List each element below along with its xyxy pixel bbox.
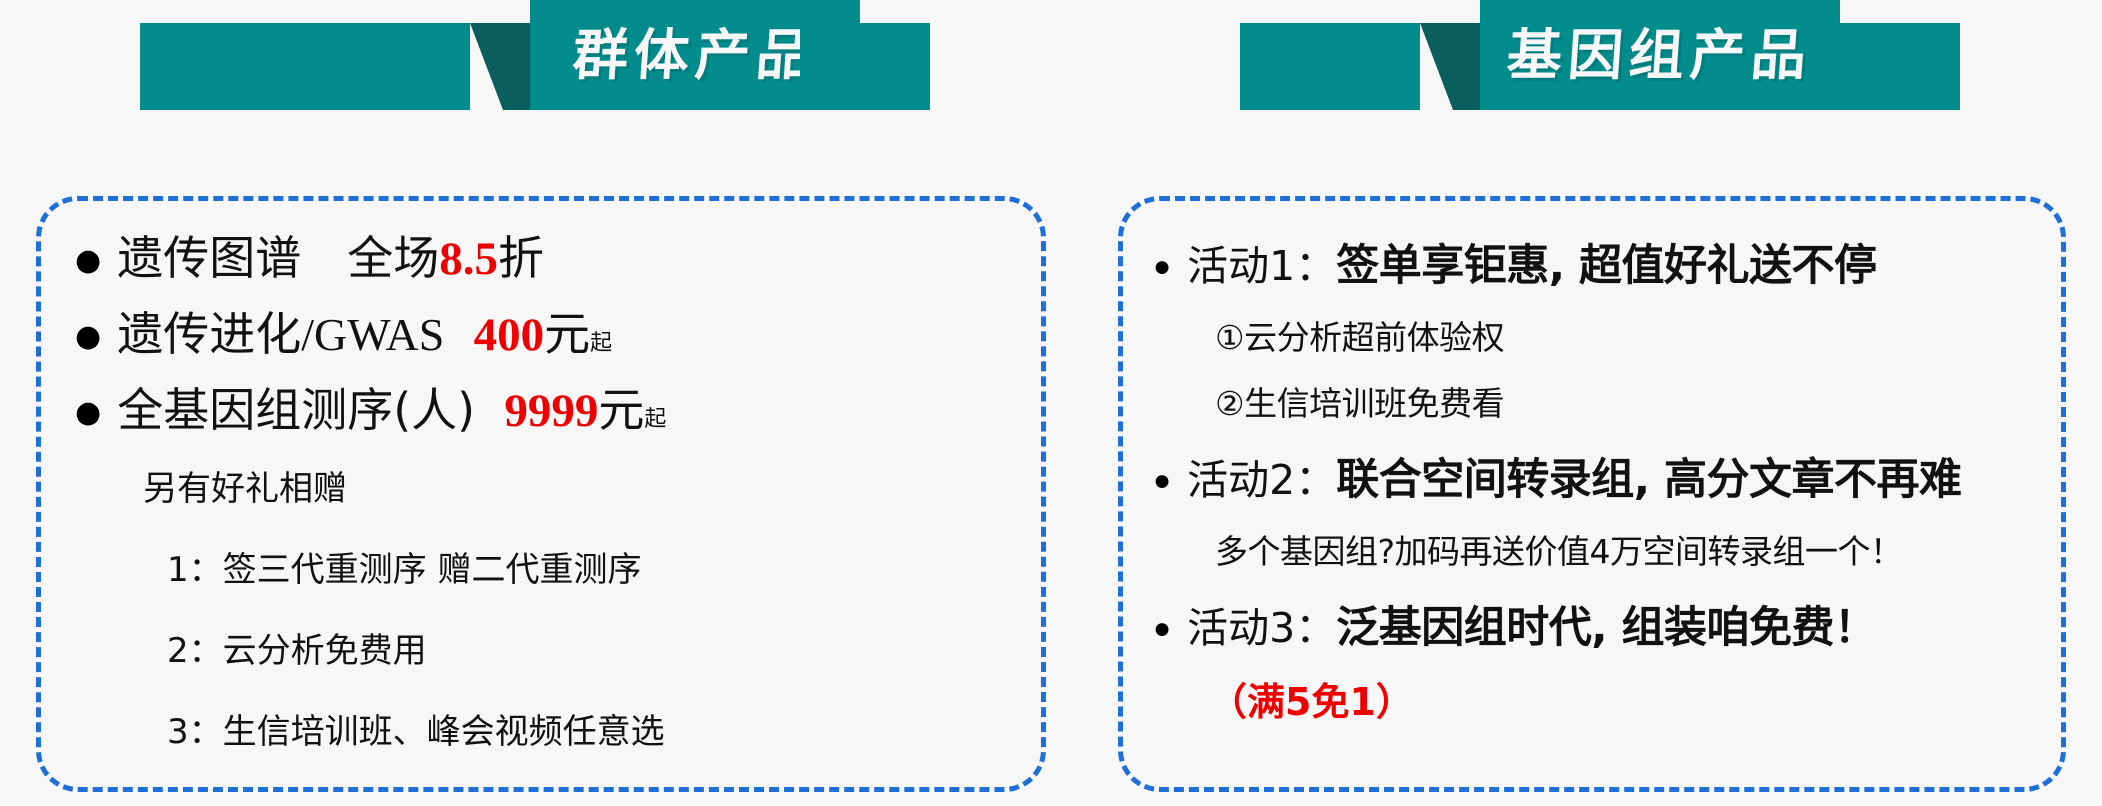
banner-group-products: 群体产品 bbox=[140, 0, 930, 110]
bullet-prefix: 全基因组测序(人) bbox=[117, 383, 475, 437]
bullet-dot-icon: ● bbox=[75, 398, 101, 428]
activity-text: 活动2：联合空间转录组, 高分文章不再难 bbox=[1187, 445, 1961, 507]
banner-title: 基因组产品 bbox=[1506, 28, 1815, 83]
bullet-dot-icon: ● bbox=[75, 246, 101, 276]
activity-label: 活动2： bbox=[1187, 456, 1336, 504]
gift-item: 1：签三代重测序 赠二代重测序 bbox=[167, 542, 1011, 591]
card-body: ● 遗传图谱 全场8.5折 ● 遗传进化/GWAS 400元起 ● 全基因组测序… bbox=[41, 201, 1041, 773]
activity-red-note: （满5免1） bbox=[1209, 671, 2041, 726]
activity-text: 活动3：泛基因组时代, 组装咱免费！ bbox=[1187, 593, 1876, 655]
activity-headline: 签单享钜惠, 超值好礼送不停 bbox=[1336, 241, 1876, 291]
gift-header: 另有好礼相赠 bbox=[143, 461, 1011, 510]
list-item: ● 活动1：签单享钜惠, 超值好礼送不停 bbox=[1153, 231, 2041, 293]
bullet-highlight: 400 bbox=[474, 309, 545, 361]
card-genome-products: ● 活动1：签单享钜惠, 超值好礼送不停 ①云分析超前体验权 ②生信培训班免费看… bbox=[1118, 196, 2066, 792]
banner-genome-products: 基因组产品 bbox=[1240, 0, 1960, 110]
activity-headline: 联合空间转录组, 高分文章不再难 bbox=[1336, 455, 1961, 505]
list-item: ● 遗传图谱 全场8.5折 bbox=[75, 235, 1011, 283]
activity-text: 活动1：签单享钜惠, 超值好礼送不停 bbox=[1187, 231, 1876, 293]
ribbon-fold-left bbox=[1420, 23, 1480, 110]
bullet-suffix: 元 bbox=[598, 383, 644, 437]
bullet-text: 全基因组测序(人) 9999元起 bbox=[117, 387, 666, 435]
list-item: ● 活动3：泛基因组时代, 组装咱免费！ bbox=[1153, 593, 2041, 655]
card-body: ● 活动1：签单享钜惠, 超值好礼送不停 ①云分析超前体验权 ②生信培训班免费看… bbox=[1123, 201, 2061, 740]
card-group-products: ● 遗传图谱 全场8.5折 ● 遗传进化/GWAS 400元起 ● 全基因组测序… bbox=[36, 196, 1046, 792]
banner-title: 群体产品 bbox=[571, 28, 819, 83]
bullet-dot-icon: ● bbox=[1153, 466, 1171, 496]
bullet-small-suffix: 起 bbox=[590, 331, 612, 356]
bullet-suffix: 折 bbox=[498, 231, 544, 285]
bullet-dot-icon: ● bbox=[1153, 614, 1171, 644]
ribbon-tail-left bbox=[1240, 23, 1420, 110]
bullet-suffix: 元 bbox=[544, 307, 590, 361]
activity-note: ②生信培训班免费看 bbox=[1215, 377, 2041, 425]
bullet-prefix: 遗传进化/GWAS bbox=[117, 309, 444, 360]
bullet-dot-icon: ● bbox=[1153, 252, 1171, 282]
ribbon-tail-right bbox=[800, 23, 930, 110]
list-item: ● 遗传进化/GWAS 400元起 bbox=[75, 311, 1011, 359]
ribbon-tail-right bbox=[1840, 23, 1960, 110]
bullet-highlight: 9999 bbox=[504, 385, 598, 437]
activity-note: 多个基因组?加码再送价值4万空间转录组一个！ bbox=[1215, 525, 2041, 573]
bullet-dot-icon: ● bbox=[75, 322, 101, 352]
ribbon-center: 基因组产品 bbox=[1480, 0, 1840, 110]
list-item: ● 全基因组测序(人) 9999元起 bbox=[75, 387, 1011, 435]
bullet-text: 遗传进化/GWAS 400元起 bbox=[117, 311, 612, 359]
bullet-small-suffix: 起 bbox=[644, 407, 666, 432]
bullet-highlight: 8.5 bbox=[439, 233, 498, 285]
gift-item: 2：云分析免费用 bbox=[167, 623, 1011, 672]
activity-label: 活动3： bbox=[1187, 604, 1336, 652]
ribbon-tail-left bbox=[140, 23, 470, 110]
list-item: ● 活动2：联合空间转录组, 高分文章不再难 bbox=[1153, 445, 2041, 507]
activity-headline: 泛基因组时代, 组装咱免费！ bbox=[1336, 603, 1876, 653]
bullet-text: 遗传图谱 全场8.5折 bbox=[117, 235, 544, 283]
activity-note: ①云分析超前体验权 bbox=[1215, 311, 2041, 359]
activity-label: 活动1： bbox=[1187, 242, 1336, 290]
bullet-prefix: 遗传图谱 全场 bbox=[117, 231, 439, 285]
ribbon-fold-left bbox=[470, 23, 530, 110]
gift-item: 3：生信培训班、峰会视频任意选 bbox=[167, 704, 1011, 753]
